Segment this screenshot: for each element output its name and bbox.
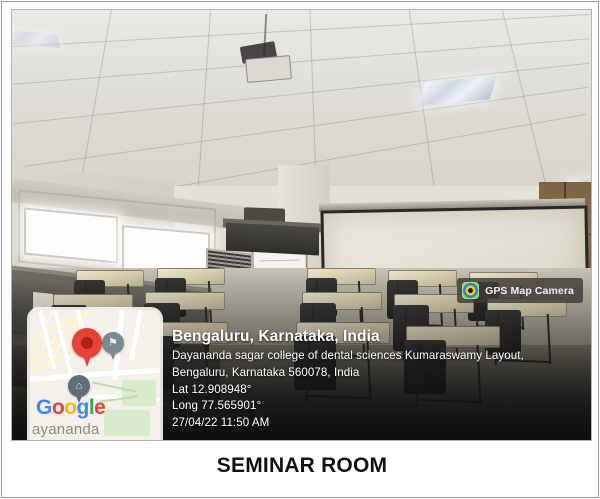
primary-location-pin: [72, 328, 102, 358]
figure-caption: SEMINAR ROOM: [2, 454, 600, 478]
gps-location-title: Bengaluru, Karnataka, India: [172, 327, 583, 346]
map-green-area: [122, 380, 156, 406]
google-logo: Google: [36, 397, 105, 418]
seminar-room-photo: GPS Map Camera: [12, 10, 591, 440]
poi-pin: ⚑: [102, 332, 124, 354]
gps-map-camera-badge: GPS Map Camera: [457, 278, 583, 303]
image-frame: GPS Map Camera: [1, 1, 599, 498]
gps-info-block: Bengaluru, Karnataka, India Dayananda sa…: [172, 327, 583, 432]
school-pin-glyph: ⌂: [68, 375, 90, 397]
gps-address-line-1: Dayananda sagar college of dental scienc…: [172, 348, 583, 365]
gps-map-camera-icon: [462, 282, 479, 299]
google-logo-letter: e: [94, 396, 105, 419]
gps-map-camera-label: GPS Map Camera: [485, 285, 574, 297]
map-area-label: ayananda: [32, 421, 100, 438]
figure-container: GPS Map Camera: [0, 0, 600, 499]
gps-timestamp: 27/04/22 11:50 AM: [172, 415, 583, 432]
google-logo-letter: g: [77, 396, 89, 419]
google-logo-letter: o: [52, 396, 64, 419]
google-logo-letter: G: [36, 396, 52, 419]
photograph: GPS Map Camera: [12, 10, 591, 440]
gps-address-line-2: Bengaluru, Karnataka 560078, India: [172, 365, 583, 382]
gps-latitude: Lat 12.908948°: [172, 382, 583, 399]
teacher-desk: [226, 223, 319, 256]
google-logo-letter: o: [64, 396, 76, 419]
ceiling-projector: [246, 55, 293, 82]
school-poi-pin: ⌂: [68, 375, 90, 397]
map-thumbnail: ⚑ ⌂ Google ayananda: [30, 310, 160, 440]
poi-pin-glyph: ⚑: [102, 332, 124, 354]
gps-longitude: Long 77.565901°: [172, 398, 583, 415]
window-pane: [24, 208, 118, 264]
map-green-area: [104, 410, 150, 436]
